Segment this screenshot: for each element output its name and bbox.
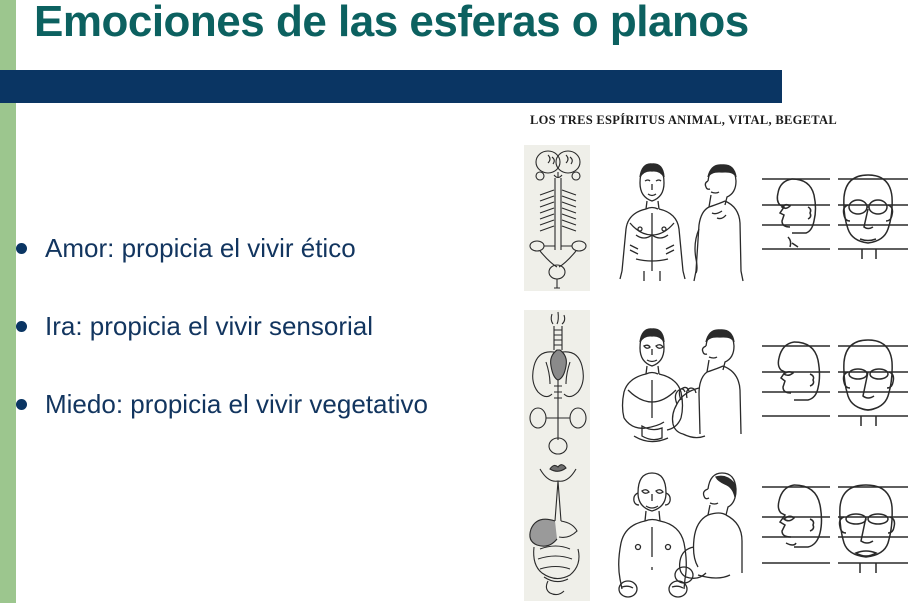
digestive-system-icon [524,455,590,601]
list-item-label: Miedo: propicia el vivir vegetativo [45,386,428,422]
figure-row [500,145,908,295]
bullet-list: Amor: propicia el vivir ético Ira: propi… [0,230,500,464]
list-item[interactable]: Ira: propicia el vivir sensorial [0,308,500,344]
figure-row [500,310,908,460]
figure-caption: LOS TRES ESPÍRITUS ANIMAL, VITAL, BEGETA… [530,113,837,128]
list-item-label: Amor: propicia el vivir ético [45,230,356,266]
list-item[interactable]: Miedo: propicia el vivir vegetativo [0,386,500,422]
figure-row [500,455,908,603]
bullet-dot-icon [16,321,27,332]
title-underline-banner [0,70,782,103]
head-proportion-diagram-icon [762,328,908,443]
slide: Emociones de las esferas o planos Amor: … [0,0,908,603]
head-proportion-diagram-icon [762,163,908,278]
page-title: Emociones de las esferas o planos [34,0,904,50]
bullet-dot-icon [16,399,27,410]
bullet-dot-icon [16,243,27,254]
circulatory-system-icon [524,310,590,456]
body-figures-icon [600,153,760,291]
list-item[interactable]: Amor: propicia el vivir ético [0,230,500,266]
body-figures-icon [600,463,760,601]
body-figures-icon [600,318,760,456]
nervous-system-icon [524,145,590,291]
figure-illustration: LOS TRES ESPÍRITUS ANIMAL, VITAL, BEGETA… [500,105,908,603]
list-item-label: Ira: propicia el vivir sensorial [45,308,373,344]
head-proportion-diagram-icon [762,473,908,588]
